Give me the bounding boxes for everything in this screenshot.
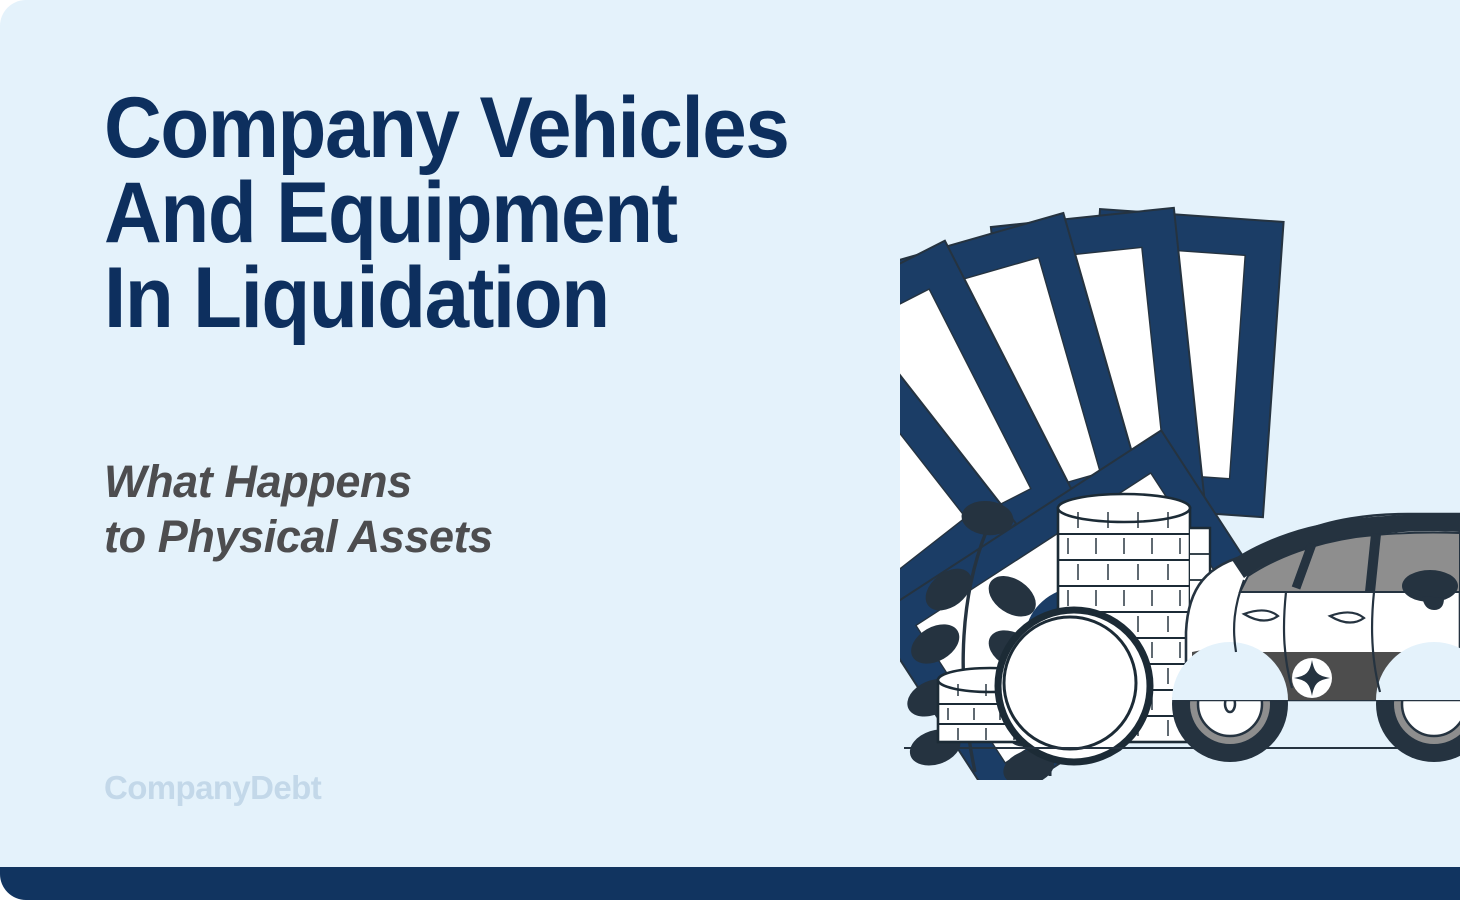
page-subtitle: What Happens to Physical Assets — [104, 455, 493, 565]
footer-bar — [0, 867, 1460, 900]
page-title: Company Vehicles And Equipment In Liquid… — [104, 86, 922, 341]
headline-block: Company Vehicles And Equipment In Liquid… — [104, 86, 984, 341]
poster-canvas: Company Vehicles And Equipment In Liquid… — [0, 0, 1460, 900]
brand-logo: CompanyDebt — [104, 769, 321, 807]
hero-illustration — [900, 140, 1460, 780]
standing-coin — [998, 610, 1150, 762]
sparkle-car-door — [1292, 658, 1332, 698]
